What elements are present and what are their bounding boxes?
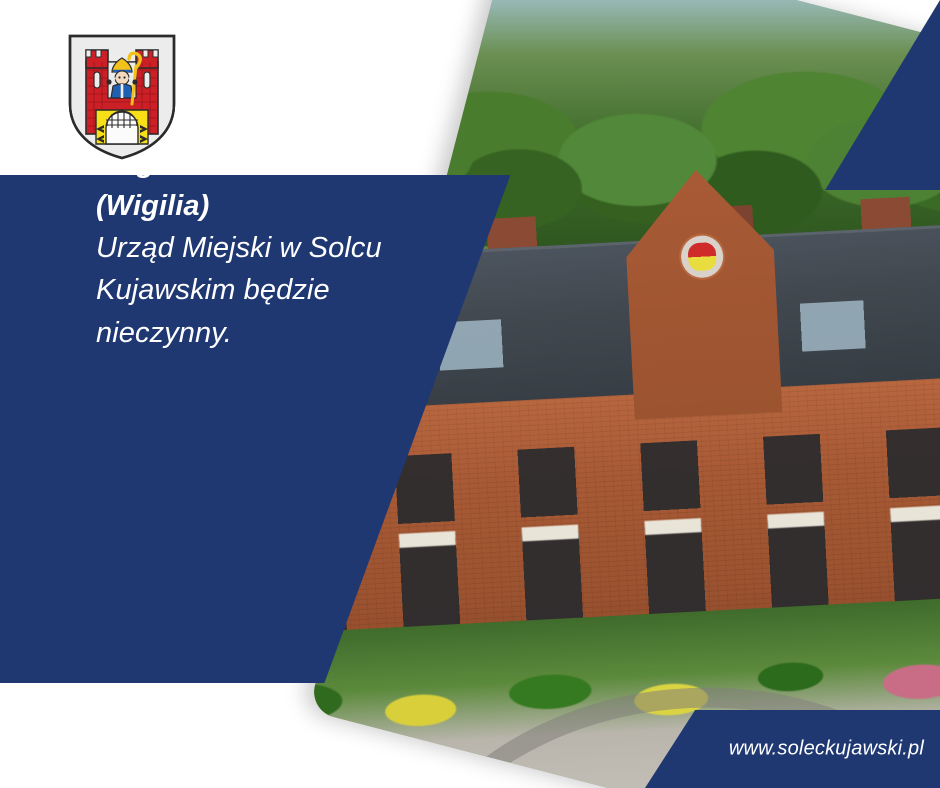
poster-canvas: Informujemy, że 24 grudnia 2024 r. (Wigi… [0, 0, 940, 788]
headline-line-5: Kujawskim będzie [96, 269, 496, 311]
website-url[interactable]: www.soleckujawski.pl [729, 738, 924, 761]
headline-line-4: Urząd Miejski w Solcu [96, 227, 496, 269]
headline-line-3: (Wigilia) [96, 185, 496, 227]
coat-of-arms-icon [66, 32, 178, 160]
headline-line-6: nieczynny. [96, 312, 496, 354]
website-bar: www.soleckujawski.pl [645, 710, 940, 788]
gable-crest-icon [678, 233, 726, 281]
